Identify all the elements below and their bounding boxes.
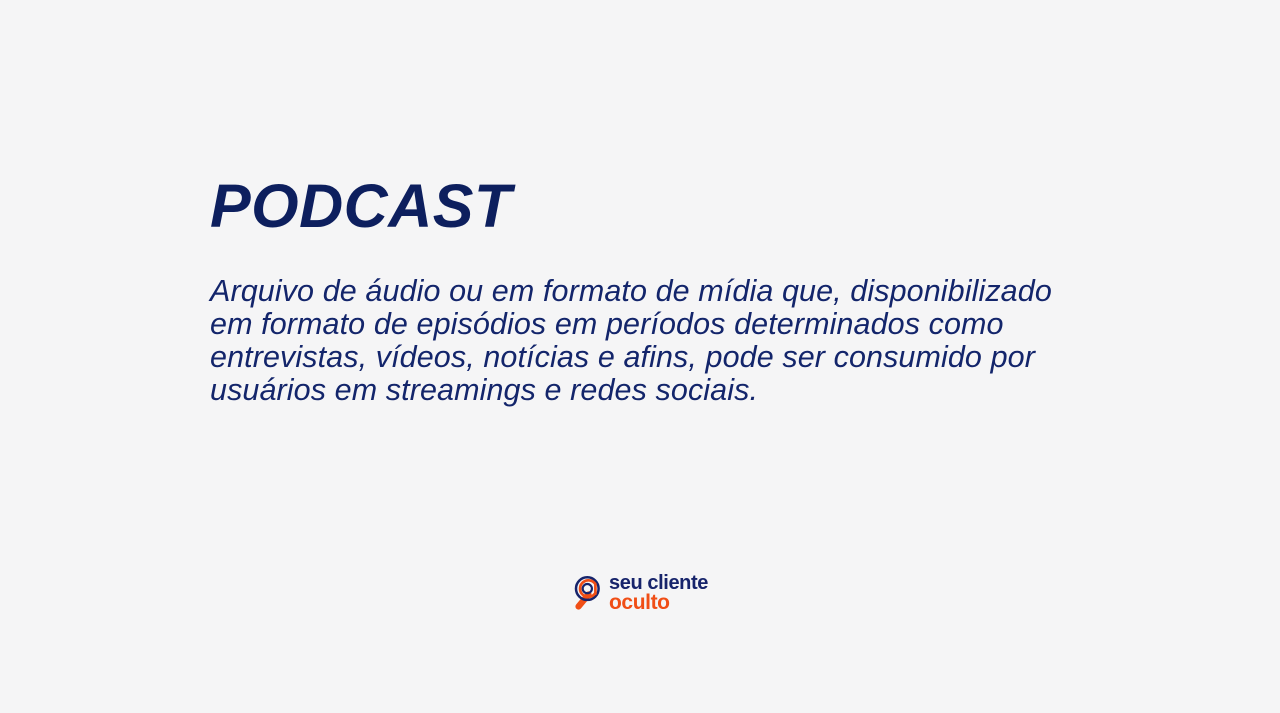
brand-wordmark: seu cliente oculto	[609, 574, 708, 612]
brand-logo: seu cliente oculto	[571, 571, 711, 615]
slide-canvas: PODCAST Arquivo de áudio ou em formato d…	[0, 0, 1280, 713]
definition-paragraph: Arquivo de áudio ou em formato de mídia …	[210, 275, 1058, 407]
magnifying-glass-spiral-icon	[571, 574, 603, 612]
brand-wordmark-line-2: oculto	[609, 593, 708, 612]
brand-wordmark-line-1: seu cliente	[609, 574, 708, 592]
page-title: PODCAST	[210, 176, 512, 237]
